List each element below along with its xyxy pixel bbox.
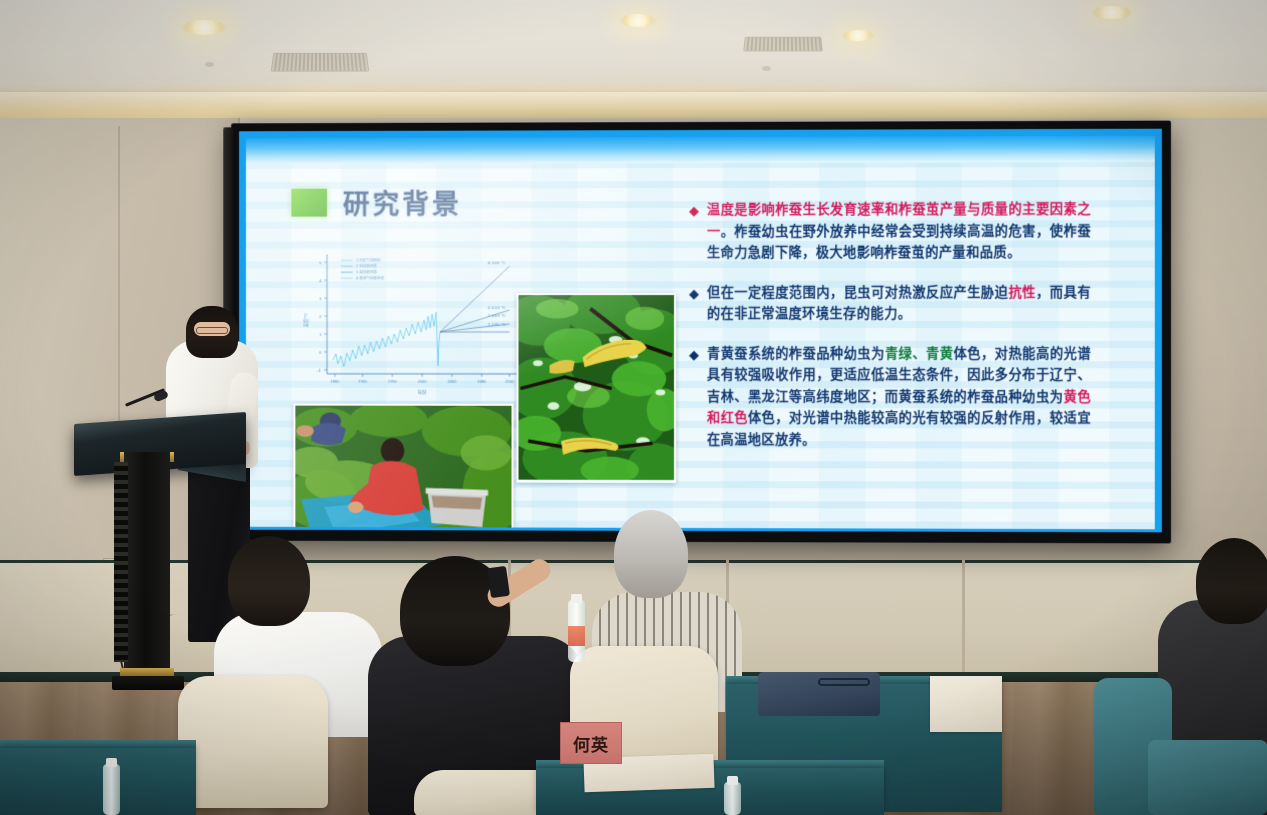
smartphone-icon[interactable]: [487, 566, 510, 598]
audience-head-right: [1196, 538, 1267, 624]
lectern-speaker-grill: [114, 462, 128, 662]
eyeglasses-icon: [818, 678, 870, 686]
projection-screen[interactable]: 研究背景: [231, 121, 1171, 544]
presenter-glasses: [196, 327, 228, 334]
conference-table: [0, 748, 196, 815]
smoke-detector: [205, 62, 214, 67]
lectern-column: [124, 452, 170, 690]
ceiling-downlight: [620, 14, 656, 27]
presentation-slide: 研究背景: [239, 129, 1162, 533]
name-placard-text: 何英: [573, 731, 609, 756]
ceiling-downlight: [182, 20, 226, 35]
bottle-cap: [106, 758, 117, 767]
chair-teal[interactable]: [1148, 740, 1267, 815]
bottle-label: [568, 626, 585, 646]
audience-head-dark-hair: [228, 536, 310, 626]
wall-band-seam: [962, 560, 965, 680]
bottle-cap: [727, 776, 738, 785]
ceiling-downlight: [1092, 6, 1132, 19]
bottle-cap: [571, 594, 582, 603]
conference-room-photo: 研究背景: [0, 0, 1267, 815]
slide-blue-frame: [239, 129, 1162, 533]
ceiling-air-vent: [743, 37, 823, 52]
water-bottle[interactable]: [724, 782, 741, 815]
document-paper: [930, 676, 1002, 732]
smoke-detector: [762, 66, 771, 71]
ceiling-downlight: [842, 30, 874, 41]
ceiling-air-vent: [271, 53, 370, 72]
water-bottle[interactable]: [103, 764, 120, 815]
chair[interactable]: [178, 676, 328, 808]
name-placard: 何英: [560, 722, 622, 764]
audience-head-gray-hair: [614, 510, 688, 598]
lectern-base: [112, 676, 184, 690]
